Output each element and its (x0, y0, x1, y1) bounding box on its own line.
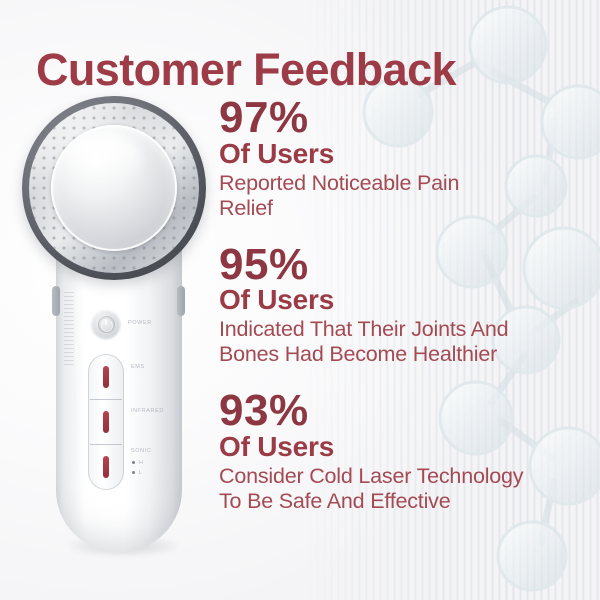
power-icon (98, 316, 115, 333)
device-side-branding-text (64, 292, 74, 368)
mode-divider (90, 399, 122, 400)
stat-percent: 95% (219, 243, 591, 288)
stat-of-users: Of Users (219, 139, 591, 170)
stat-percent: 93% (219, 389, 591, 434)
infographic-canvas: Customer Feedback POWER EMS INFRARED SON… (0, 0, 600, 600)
mode-indicator-infrared (103, 411, 109, 433)
page-title: Customer Feedback (36, 44, 456, 96)
stat-block: 97% Of Users Reported Noticeable Pain Re… (219, 96, 591, 221)
stat-block: 93% Of Users Consider Cold Laser Technol… (219, 389, 591, 514)
mode-indicator-ems (103, 366, 109, 388)
mode-indicator-sonic (103, 456, 109, 478)
device-mode-button-stack (88, 354, 124, 490)
stat-of-users: Of Users (219, 285, 591, 316)
stat-percent: 97% (219, 96, 591, 141)
device-label-power: POWER (128, 320, 152, 326)
stat-description: Indicated That Their Joints And Bones Ha… (219, 317, 591, 367)
device-label-low: L (139, 470, 143, 476)
device-side-button-right (177, 286, 185, 316)
stat-description: Consider Cold Laser Technology To Be Saf… (219, 464, 591, 514)
device-treatment-head (22, 96, 206, 280)
stat-of-users: Of Users (219, 432, 591, 463)
device-label-high: H (139, 460, 144, 466)
device-label-sonic: SONIC (131, 448, 151, 454)
device-label-ems: EMS (131, 364, 145, 370)
device-indicator-dot-high (132, 461, 135, 464)
stat-description: Reported Noticeable Pain Relief (219, 171, 591, 221)
stat-block: 95% Of Users Indicated That Their Joints… (219, 243, 591, 368)
statistics-list: 97% Of Users Reported Noticeable Pain Re… (219, 96, 591, 514)
device-indicator-dot-low (132, 471, 135, 474)
device-power-button (92, 310, 120, 338)
mode-divider (90, 444, 122, 445)
device-side-button-left (52, 286, 60, 316)
product-device-image: POWER EMS INFRARED SONIC H L (16, 96, 212, 576)
device-label-infrared: INFRARED (131, 408, 164, 414)
device-head-metal-plate (51, 125, 177, 251)
